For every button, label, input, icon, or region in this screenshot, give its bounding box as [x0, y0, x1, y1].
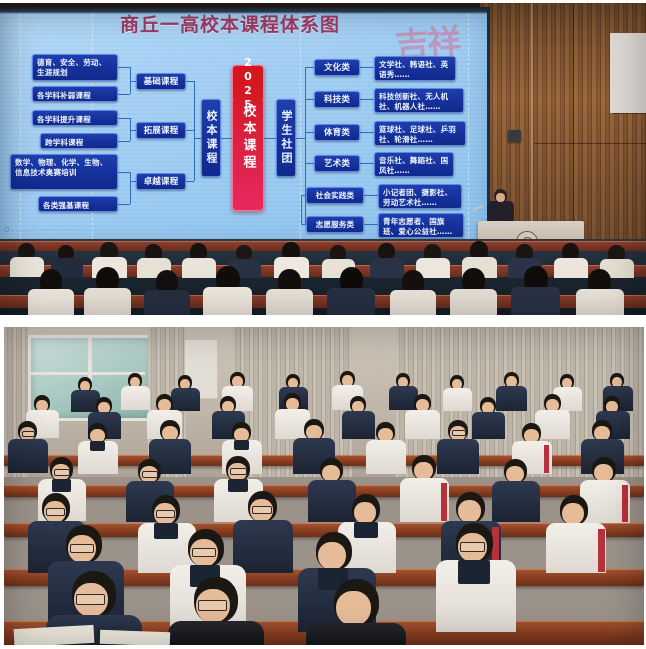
student-body: [366, 440, 406, 474]
club-detail-wenhua: 文学社、韩语社、英语秀……: [374, 56, 456, 81]
student-body: [121, 386, 150, 410]
club-detail-tiyu: 篮球社、足球社、乒羽社、轮滑社……: [374, 121, 466, 146]
wall-panel-seam: [534, 143, 646, 144]
student-body: [171, 388, 200, 411]
club-detail-yishu: 音乐社、舞蹈社、国风社……: [374, 152, 454, 177]
wall-speaker-icon: [508, 130, 521, 142]
student-face: [562, 503, 584, 525]
connector: [360, 99, 374, 100]
slide-footer-text: O...... ---- ---: [4, 226, 114, 234]
eyeglasses-icon: [76, 594, 105, 605]
club-detail-shehui: 小记者团、摄影社、劳动艺术社……: [378, 184, 462, 209]
connector: [130, 81, 136, 82]
center-hub-year: 2025: [242, 56, 255, 112]
uniform-collar: [228, 479, 248, 492]
student-body: [308, 480, 356, 522]
window-mullion: [31, 372, 145, 375]
course-item-qiangji: 各类强基课程: [38, 196, 118, 212]
connector: [130, 172, 131, 204]
course-item-de-yu: 德育、安全、劳动、生涯规划: [32, 54, 118, 81]
screenshot-root: 商丘一高校本课程体系图 吉祥 德育、安全、劳动、生涯规划 各学科补弱课程 基础课…: [0, 0, 646, 649]
student-body: [405, 410, 440, 439]
connector: [360, 163, 374, 164]
connector: [118, 141, 130, 142]
connector: [360, 132, 374, 133]
course-group-jichu: 基础课程: [136, 73, 186, 90]
desk-paper: [100, 630, 170, 645]
student-torso: [511, 287, 560, 315]
uniform-red-stripe: [622, 485, 628, 522]
connector: [118, 94, 130, 95]
bottom-photograph: [4, 327, 644, 645]
student-body: [8, 439, 48, 473]
desk-paper: [14, 625, 95, 645]
eyeglasses-icon: [460, 542, 485, 552]
student-body: [306, 623, 406, 645]
connector: [360, 67, 374, 68]
eyeglasses-icon: [230, 468, 247, 475]
student-torso: [327, 288, 375, 315]
eyeglasses-icon: [22, 431, 35, 437]
center-hub-year-band: 2025: [232, 65, 264, 101]
eyeglasses-icon: [54, 469, 70, 476]
connector: [130, 130, 136, 131]
connector: [118, 67, 130, 68]
course-group-tuozhan: 拓展课程: [136, 122, 186, 139]
student-torso: [450, 289, 497, 315]
club-detail-keji: 科技创新社、无人机社、机器人社……: [374, 88, 464, 113]
connector: [296, 138, 305, 139]
student-body: [472, 412, 505, 439]
student-body: [233, 520, 293, 573]
eyeglasses-icon: [142, 471, 158, 478]
student-torso: [390, 290, 436, 315]
top-audience: [0, 239, 646, 315]
student-face: [318, 542, 346, 570]
club-category-wenhua: 文化类: [314, 59, 360, 76]
uniform-red-stripe: [544, 445, 549, 473]
eyeglasses-icon: [252, 506, 272, 514]
club-category-tiyu: 体育类: [314, 124, 360, 141]
center-right-spine: 学生社团: [276, 99, 296, 177]
connector: [194, 138, 202, 139]
student-body: [437, 439, 479, 474]
club-category-shehui: 社会实践类: [306, 187, 364, 204]
uniform-collar: [154, 523, 178, 539]
student-body: [496, 386, 527, 411]
connector: [305, 163, 314, 164]
club-detail-zhiyuan: 青年志愿者、国旗班、爱心公益社……: [378, 213, 464, 238]
connector: [118, 118, 130, 119]
screen-top-shadow: [0, 7, 487, 14]
student-face: [458, 500, 481, 523]
connector: [301, 195, 302, 224]
wall-panel-seam: [573, 3, 574, 233]
course-group-zhuoyue: 卓越课程: [136, 173, 186, 190]
student-torso: [84, 288, 131, 315]
wall-panel-seam: [612, 113, 646, 114]
uniform-collar: [52, 479, 71, 492]
eyeglasses-icon: [46, 508, 65, 516]
bench-row: [0, 241, 646, 251]
student-torso: [28, 289, 74, 315]
student-body: [546, 523, 606, 573]
student-torso: [10, 257, 44, 277]
student-body: [168, 621, 264, 645]
course-item-bu-ruo: 各学科补弱课程: [32, 86, 118, 102]
student-torso: [182, 258, 216, 278]
uniform-red-stripe: [598, 529, 605, 572]
student-torso: [554, 258, 588, 278]
student-torso: [266, 289, 313, 315]
connector: [194, 81, 195, 181]
connector: [186, 130, 194, 131]
connector: [305, 99, 314, 100]
uniform-collar: [458, 560, 490, 584]
eyeglasses-icon: [452, 430, 466, 436]
projection-screen: 商丘一高校本课程体系图 吉祥 德育、安全、劳动、生涯规划 各学科补弱课程 基础课…: [0, 7, 490, 245]
connector: [305, 67, 306, 225]
course-item-tisheng: 各学科提升课程: [32, 110, 118, 126]
connector: [301, 224, 306, 225]
uniform-collar: [90, 441, 105, 451]
connector: [364, 195, 378, 196]
connector: [130, 181, 136, 182]
student-torso: [203, 287, 252, 315]
student-face: [336, 591, 371, 626]
connector: [305, 132, 314, 133]
eyeglasses-icon: [198, 600, 227, 611]
connector: [118, 172, 130, 173]
eyeglasses-icon: [192, 548, 216, 557]
eyeglasses-icon: [70, 544, 94, 553]
student-body: [492, 481, 540, 522]
club-category-yishu: 艺术类: [314, 155, 360, 172]
course-item-aosai: 数学、物理、化学、生物、信息技术奥赛培训: [10, 154, 118, 190]
top-photograph: 商丘一高校本课程体系图 吉祥 德育、安全、劳动、生涯规划 各学科补弱课程 基础课…: [0, 3, 646, 315]
uniform-collar: [234, 440, 249, 450]
wall-white-panel: [610, 33, 646, 113]
uniform-collar: [354, 522, 378, 538]
student-face: [354, 502, 376, 524]
connector: [305, 67, 314, 68]
eyeglasses-icon: [156, 510, 175, 518]
student-torso: [370, 258, 404, 278]
uniform-red-stripe: [441, 483, 447, 521]
club-category-zhiyuan: 志愿服务类: [306, 216, 364, 233]
photo-separator: [0, 315, 646, 327]
connector: [118, 204, 130, 205]
center-left-spine: 校本课程: [201, 99, 221, 177]
connector: [186, 181, 194, 182]
connector: [364, 224, 378, 225]
student-torso: [576, 289, 624, 315]
student-body: [342, 411, 375, 439]
center-hub-label: 校本课程: [239, 104, 258, 172]
student-body: [443, 388, 472, 411]
presenter-face: [496, 193, 505, 202]
slide-guide-line: [20, 13, 21, 245]
club-category-keji: 科技类: [314, 91, 360, 108]
student-torso: [144, 290, 190, 315]
connector: [264, 138, 276, 139]
course-item-kuaxueke: 跨学科课程: [40, 133, 118, 149]
connector: [221, 138, 232, 139]
connector: [186, 81, 194, 82]
